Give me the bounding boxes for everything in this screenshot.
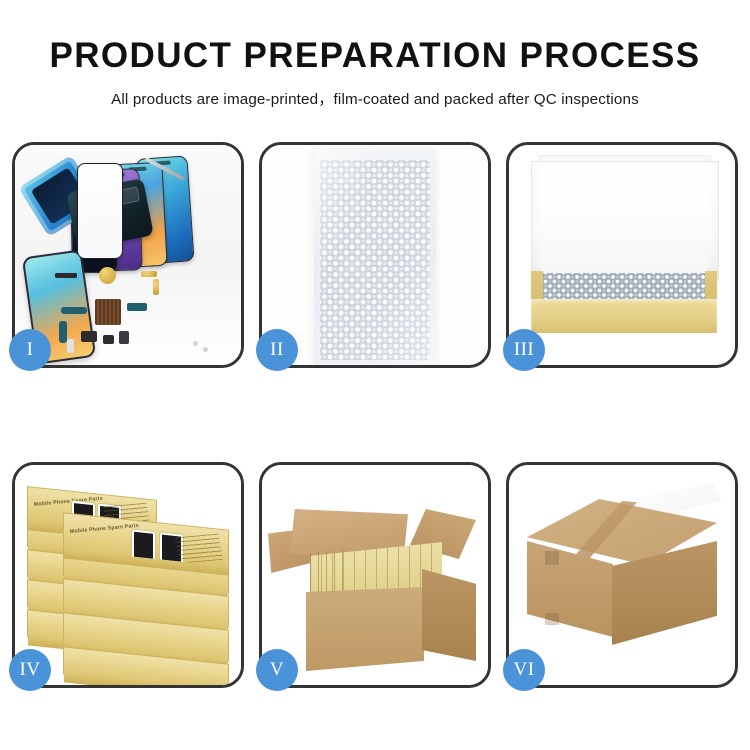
box-front-wall [531,299,717,333]
part-camera-flex [127,303,147,311]
bubble-wrap-sheet [314,150,436,365]
stacked-box-top-front: Mobile Phone Spare Parts [63,512,229,567]
step-panel-3: III [506,142,738,368]
step-badge-3: III [503,329,545,371]
spare-parts-cluster [89,265,241,365]
part-screw-3 [203,347,208,352]
step-image-3 [509,145,735,365]
step-image-4: Mobile Phone Spare Parts Mobile Phone Sp… [15,465,241,685]
part-gold-connector [141,271,157,277]
step-image-1 [15,145,241,365]
box-stack: Mobile Phone Spare Parts Mobile Phone Sp… [23,481,239,677]
carton-handle-notch-bottom [545,613,559,625]
carton-front-face [527,541,613,637]
step-badge-6: VI [503,649,545,691]
page-title: PRODUCT PREPARATION PROCESS [0,0,750,75]
box-spec-lines [175,534,223,564]
part-flex-cable-2 [59,321,67,343]
carton-front-face [306,587,424,671]
bubble-wrapped-contents [537,273,709,301]
box-label-text: Mobile Phone Spare Parts [69,523,139,535]
step-panel-4: Mobile Phone Spare Parts Mobile Phone Sp… [12,462,244,688]
foam-liner [541,197,707,275]
part-sim-tray [119,331,129,344]
step-badge-1: I [9,329,51,371]
step-image-5 [262,465,488,685]
step-badge-5: V [256,649,298,691]
box-side [64,673,228,685]
step-image-2 [262,145,488,365]
step-badge-4: IV [9,649,51,691]
part-pcb-board [95,299,121,325]
part-vibrator [103,335,114,344]
page-subtitle: All products are image-printed，film-coat… [0,75,750,109]
part-coil [99,267,116,284]
product-preparation-infographic: PRODUCT PREPARATION PROCESS All products… [0,0,750,750]
part-speaker [55,273,77,278]
carton-handle-notch-top [545,551,559,565]
header: PRODUCT PREPARATION PROCESS All products… [0,0,750,109]
part-gold-flex [153,279,159,295]
part-flex-cable [61,307,87,314]
step-badge-2: II [256,329,298,371]
steps-grid: I II III [12,142,738,688]
part-screw-2 [193,341,198,346]
step-panel-1: I [12,142,244,368]
part-button [81,331,97,342]
step-panel-6: VI [506,462,738,688]
tempered-glass-sheet [77,163,123,259]
part-screw [67,339,74,353]
step-panel-5: V [259,462,491,688]
step-panel-2: II [259,142,491,368]
carton-side-face [422,569,476,661]
step-image-6 [509,465,735,685]
bubble-pattern [320,160,430,360]
